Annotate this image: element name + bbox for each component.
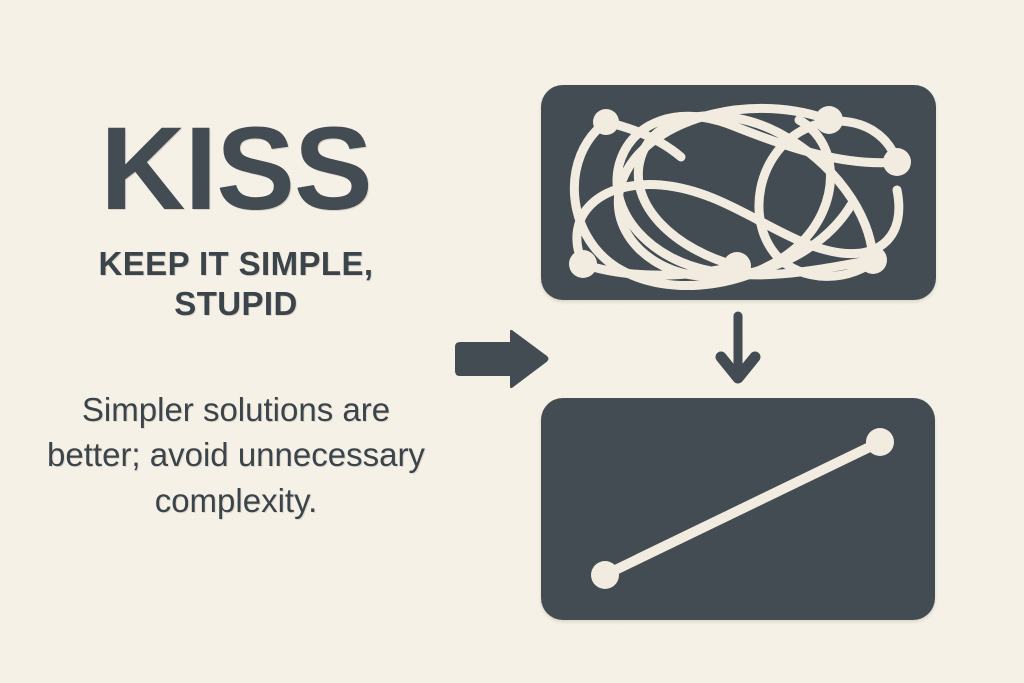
graph-node <box>815 106 843 134</box>
tangled-network-graphic <box>541 85 936 300</box>
arrow-right-icon <box>450 328 554 390</box>
simple-diagram-panel <box>541 398 935 620</box>
graph-node <box>866 428 894 456</box>
complex-diagram-panel <box>541 85 936 300</box>
simple-edge <box>605 442 880 575</box>
graph-node <box>593 109 619 135</box>
page-title: KISS <box>36 110 436 228</box>
description-text: Simpler solutions are better; avoid unne… <box>36 387 436 524</box>
graph-node <box>723 252 751 280</box>
text-column: KISS KEEP IT SIMPLE, STUPID Simpler solu… <box>36 110 436 523</box>
graph-node <box>569 250 597 278</box>
graph-node <box>883 148 911 176</box>
graph-node <box>859 246 887 274</box>
subtitle: KEEP IT SIMPLE, STUPID <box>36 244 436 325</box>
arrow-down-icon <box>712 310 764 392</box>
graph-node <box>591 561 619 589</box>
single-line-graphic <box>541 398 935 620</box>
kiss-infographic: KISS KEEP IT SIMPLE, STUPID Simpler solu… <box>0 0 1024 683</box>
